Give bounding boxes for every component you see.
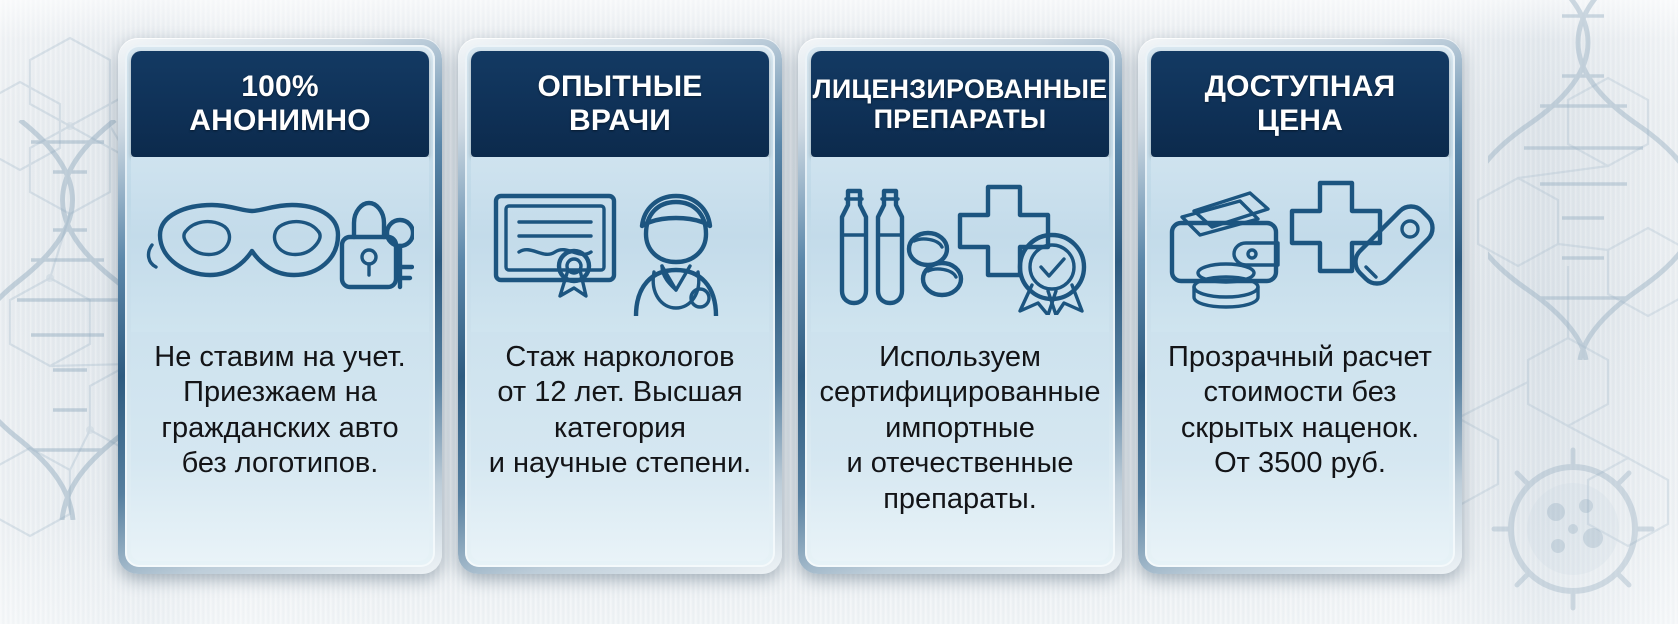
- card-illustration-drugs: [811, 157, 1109, 332]
- pills-icon: [909, 233, 961, 295]
- card-title: ОПЫТНЫЕ ВРАЧИ: [531, 70, 708, 137]
- card-header-licensed-drugs: ЛИЦЕНЗИРОВАННЫЕ ПРЕПАРАТЫ: [811, 51, 1109, 157]
- card-body-licensed-drugs: Используем сертифицированные импортные и…: [811, 332, 1109, 561]
- coins-icon: [1194, 264, 1258, 307]
- promo-banner: 100% АНОНИМНО: [0, 0, 1678, 624]
- card-text: Используем сертифицированные импортные и…: [820, 340, 1101, 517]
- mask-icon: [149, 205, 338, 275]
- certificate-icon: [496, 196, 614, 296]
- card-header-experienced-doctors: ОПЫТНЫЕ ВРАЧИ: [471, 51, 769, 157]
- card-licensed-drugs[interactable]: ЛИЦЕНЗИРОВАННЫЕ ПРЕПАРАТЫ: [798, 38, 1122, 574]
- card-affordable-price[interactable]: ДОСТУПНАЯ ЦЕНА: [1138, 38, 1462, 574]
- medical-cross-icon: [1292, 183, 1380, 271]
- card-illustration-price: [1151, 157, 1449, 332]
- key-icon: [387, 220, 413, 287]
- card-title: ЛИЦЕНЗИРОВАННЫЕ ПРЕПАРАТЫ: [807, 74, 1114, 134]
- card-illustration-doctors: [471, 157, 769, 332]
- card-experienced-doctors[interactable]: ОПЫТНЫЕ ВРАЧИ: [458, 38, 782, 574]
- price-tag-icon: [1356, 206, 1433, 283]
- ampoule-icon: [842, 191, 866, 303]
- card-title: 100% АНОНИМНО: [183, 70, 376, 137]
- card-body-experienced-doctors: Стаж наркологов от 12 лет. Высшая катего…: [471, 332, 769, 561]
- card-body-affordable-price: Прозрачный расчет стоимости без скрытых …: [1151, 332, 1449, 561]
- card-header-affordable-price: ДОСТУПНАЯ ЦЕНА: [1151, 51, 1449, 157]
- padlock-icon: [342, 203, 396, 287]
- card-text: Не ставим на учет. Приезжаем на гражданс…: [154, 340, 405, 482]
- card-text: Прозрачный расчет стоимости без скрытых …: [1168, 340, 1432, 482]
- card-text: Стаж наркологов от 12 лет. Высшая катего…: [489, 340, 751, 482]
- card-title: ДОСТУПНАЯ ЦЕНА: [1199, 70, 1402, 137]
- card-anonymity[interactable]: 100% АНОНИМНО: [118, 38, 442, 574]
- quality-badge-icon: [1020, 235, 1084, 315]
- doctor-icon: [636, 196, 716, 316]
- wallet-icon: [1172, 193, 1278, 281]
- medical-cross-icon: [960, 187, 1048, 275]
- card-body-anonymity: Не ставим на учет. Приезжаем на гражданс…: [131, 332, 429, 561]
- ampoule-icon-2: [878, 191, 902, 303]
- feature-cards: 100% АНОНИМНО: [0, 0, 1678, 624]
- card-header-anonymity: 100% АНОНИМНО: [131, 51, 429, 157]
- card-illustration-anonymity: [131, 157, 429, 332]
